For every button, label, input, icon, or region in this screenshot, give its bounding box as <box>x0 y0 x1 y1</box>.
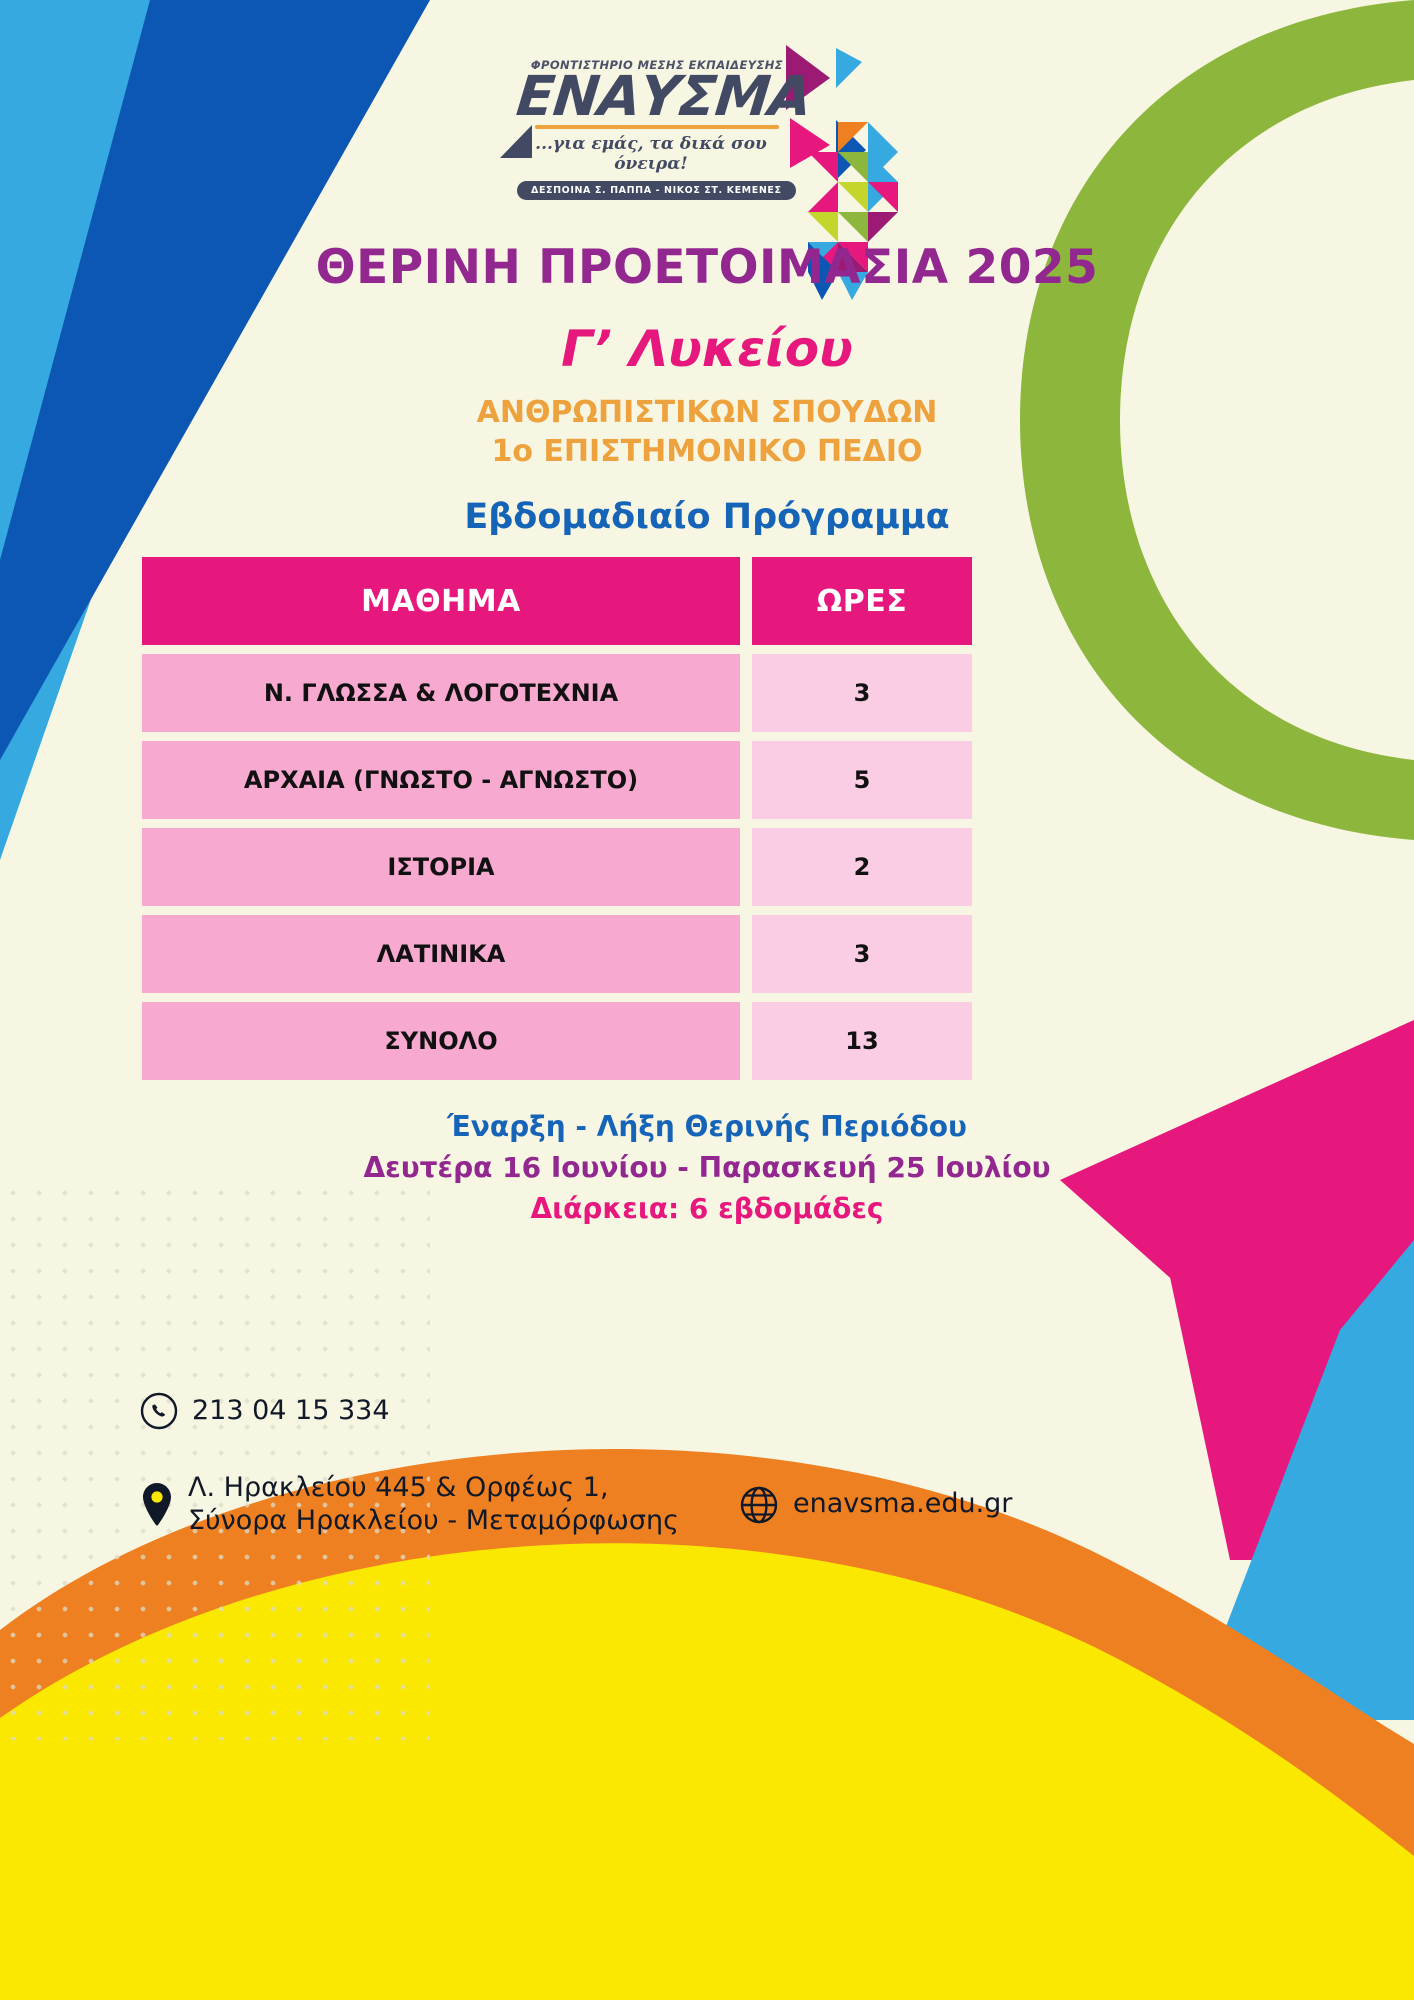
cell-hours: 3 <box>752 915 972 993</box>
phone-icon <box>140 1392 178 1430</box>
address-block: Λ. Ηρακλείου 445 & Ορφέως 1, Σύνορα Ηρακ… <box>140 1472 679 1538</box>
table-header-row: ΜΑΘΗΜΑ ΩΡΕΣ <box>142 557 1272 645</box>
cell-subject: Ν. ΓΛΩΣΣΑ & ΛΟΓΟΤΕΧΝΙΑ <box>142 654 740 732</box>
poster-canvas: ΦΡΟΝΤΙΣΤΗΡΙΟ ΜΕΣΗΣ ΕΚΠΑΙΔΕΥΣΗΣ ΕΝΑΥΣΜΑ .… <box>0 0 1414 2000</box>
table-row-total: ΣΥΝΟΛΟ 13 <box>142 1002 1272 1080</box>
logo-tagline: ...για εμάς, τα δικά σου όνειρα! <box>517 134 785 174</box>
period-duration: Διάρκεια: 6 εβδομάδες <box>0 1192 1414 1225</box>
cell-hours: 3 <box>752 654 972 732</box>
period-dates: Δευτέρα 16 Ιουνίου - Παρασκευή 25 Ιουλίο… <box>0 1151 1414 1184</box>
field-line-2: 1ο ΕΠΙΣΤΗΜΟΝΙΚΟ ΠΕΔΙΟ <box>0 434 1414 469</box>
contact-footer: 213 04 15 334 Λ. Ηρακλείου 445 & Ορφέως … <box>140 1392 1290 1538</box>
contact-address-row[interactable]: Λ. Ηρακλείου 445 & Ορφέως 1, Σύνορα Ηρακ… <box>140 1472 1290 1538</box>
address-line-2: Σύνορα Ηρακλείου - Μεταμόρφωσης <box>188 1505 679 1538</box>
logo-owner-names: ΔΕΣΠΟΙΝΑ Σ. ΠΑΠΠΑ - ΝΙΚΟΣ ΣΤ. ΚΕΜΕΝΕΣ <box>517 181 796 200</box>
column-header-hours: ΩΡΕΣ <box>752 557 972 645</box>
cell-hours-total: 13 <box>752 1002 972 1080</box>
column-header-subject: ΜΑΘΗΜΑ <box>142 557 740 645</box>
table-row: ΛΑΤΙΝΙΚΑ 3 <box>142 915 1272 993</box>
cell-hours: 5 <box>752 741 972 819</box>
table-row: ΙΣΤΟΡΙΑ 2 <box>142 828 1272 906</box>
contact-phone-row[interactable]: 213 04 15 334 <box>140 1392 1290 1430</box>
cell-subject-total: ΣΥΝΟΛΟ <box>142 1002 740 1080</box>
grade-subtitle: Γ’ Λυκείου <box>0 320 1414 378</box>
field-line-1: ΑΝΘΡΩΠΙΣΤΙΚΩΝ ΣΠΟΥΔΩΝ <box>0 395 1414 430</box>
table-row: ΑΡΧΑΙΑ (ΓΝΩΣΤΟ - ΑΓΝΩΣΤΟ) 5 <box>142 741 1272 819</box>
contact-website-row[interactable]: enavsma.edu.gr <box>739 1485 1012 1525</box>
table-row: Ν. ΓΛΩΣΣΑ & ΛΟΓΟΤΕΧΝΙΑ 3 <box>142 654 1272 732</box>
phone-number: 213 04 15 334 <box>192 1395 390 1428</box>
location-pin-icon <box>140 1482 174 1528</box>
logo-wordmark: ΕΝΑΥΣΜΑ <box>514 70 787 122</box>
page-title: ΘΕΡΙΝΗ ΠΡΟΕΤΟΙΜΑΣΙΑ 2025 <box>0 240 1414 295</box>
cell-subject: ΑΡΧΑΙΑ (ΓΝΩΣΤΟ - ΑΓΝΩΣΤΟ) <box>142 741 740 819</box>
period-heading: Έναρξη - Λήξη Θερινής Περιόδου <box>0 1110 1414 1143</box>
cell-subject: ΙΣΤΟΡΙΑ <box>142 828 740 906</box>
schedule-table: ΜΑΘΗΜΑ ΩΡΕΣ Ν. ΓΛΩΣΣΑ & ΛΟΓΟΤΕΧΝΙΑ 3 ΑΡΧ… <box>142 557 1272 1080</box>
period-block: Έναρξη - Λήξη Θερινής Περιόδου Δευτέρα 1… <box>0 1110 1414 1225</box>
cell-hours: 2 <box>752 828 972 906</box>
website-url: enavsma.edu.gr <box>793 1488 1012 1521</box>
cell-subject: ΛΑΤΙΝΙΚΑ <box>142 915 740 993</box>
weekly-program-title: Εβδομαδιαίο Πρόγραμμα <box>0 497 1414 537</box>
address-line-1: Λ. Ηρακλείου 445 & Ορφέως 1, <box>188 1472 679 1505</box>
brand-logo: ΦΡΟΝΤΙΣΤΗΡΙΟ ΜΕΣΗΣ ΕΚΠΑΙΔΕΥΣΗΣ ΕΝΑΥΣΜΑ .… <box>0 36 1414 216</box>
globe-icon <box>739 1485 779 1525</box>
